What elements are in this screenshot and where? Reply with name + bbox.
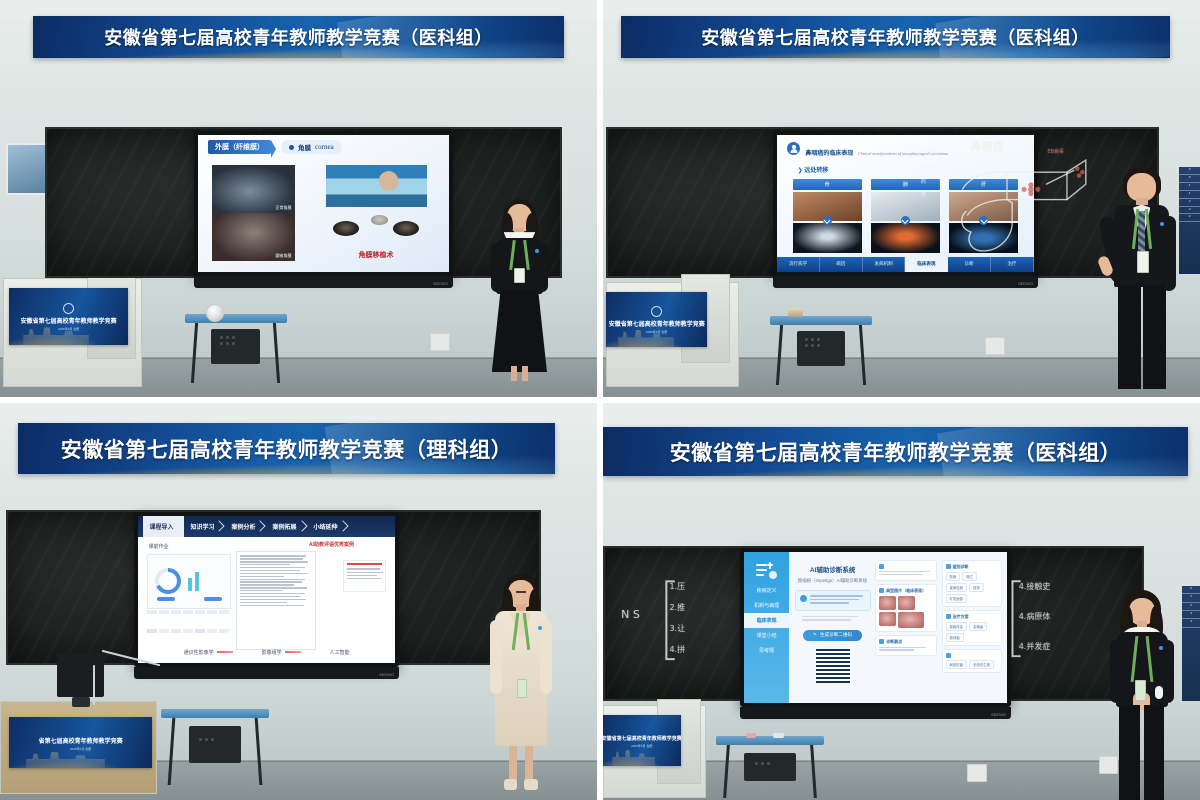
desk-leg-left bbox=[723, 745, 730, 798]
display-chin bbox=[773, 276, 1038, 288]
event-banner: 安徽省第七届高校青年教师教学竞赛（理科组） bbox=[18, 423, 555, 475]
desk-surface bbox=[716, 736, 823, 745]
slide-title-row: 外膜（纤维膜） 角膜 cornea bbox=[208, 140, 342, 154]
recipient-eye-icon bbox=[393, 221, 419, 236]
display-brand-logo: SEEWO bbox=[991, 712, 1006, 717]
desk-modesty-panel bbox=[744, 753, 796, 781]
analytics-dashboard bbox=[147, 554, 231, 609]
slide-legend: 通识性影像学 影像组学 人工智能 bbox=[169, 649, 364, 656]
chip[interactable]: 接触传染 bbox=[946, 622, 968, 631]
podium-sign-date: 2025年6月 合肥 bbox=[70, 747, 91, 751]
graft-disc-icon bbox=[371, 215, 388, 225]
legend-label-3: 人工智能 bbox=[330, 649, 350, 656]
eyeball-model-prop bbox=[206, 304, 224, 322]
legend-item-3: 人工智能 bbox=[330, 649, 350, 656]
chip-group-symptoms[interactable]: 脓疱 糜烂 蜜黄色痂 瘙痒 好发面部 bbox=[946, 572, 998, 603]
slide-bullet: ❯ 远处转移 bbox=[798, 165, 829, 174]
blackboard-left-item-1: 1.压 bbox=[669, 581, 685, 592]
chip[interactable]: 脓疱 bbox=[946, 572, 961, 581]
column-bone: 骨 bbox=[793, 179, 862, 253]
desk-surface bbox=[770, 316, 871, 325]
legend-item-1: 通识性影像学 bbox=[184, 649, 233, 656]
dashboard-pill-left bbox=[157, 597, 175, 601]
desk-modesty-panel bbox=[797, 331, 846, 365]
podium-sign-date: 2025年6月 合肥 bbox=[631, 744, 652, 748]
blackboard-right-item-3: 4.并发症 bbox=[1019, 641, 1051, 652]
event-banner: 安徽省第七届高校青年教师教学竞赛（医科组） bbox=[603, 427, 1188, 477]
podium-sign-skyline bbox=[612, 746, 655, 767]
tab-treatment[interactable]: 治疗 bbox=[991, 257, 1034, 272]
blackboard-left-item-3: 3.让 bbox=[669, 623, 685, 634]
desk-panel-dots bbox=[220, 336, 235, 345]
presenter-male bbox=[1099, 167, 1186, 389]
lesion-thumb[interactable] bbox=[898, 596, 915, 610]
trouser-left bbox=[1119, 705, 1140, 800]
document-camera-monitor bbox=[57, 653, 105, 697]
blackboard-note-1: "广东瘤" bbox=[918, 148, 938, 155]
podium-sign-date: 2025年6月 合肥 bbox=[646, 330, 667, 334]
podium-sign-title: 安徽省第七届高校青年教师教学竞赛 bbox=[603, 735, 681, 742]
ai-intro-column: AI辅助诊断系统 脓疱疮（impetigo）AI辅助诊断系统 ✎ 生成诊断二维码 bbox=[794, 560, 871, 695]
name-badge bbox=[517, 679, 528, 698]
ai-tip-text bbox=[810, 595, 866, 606]
slide-footer-caption: 角膜移植术 bbox=[316, 250, 436, 260]
tab-etiology[interactable]: 病因 bbox=[820, 257, 863, 272]
card-instructions-title bbox=[879, 564, 933, 569]
card-pathogen-chips-title: 治疗方案 bbox=[946, 614, 998, 620]
camera-post bbox=[93, 665, 95, 705]
arm-right bbox=[540, 620, 552, 694]
chevron-down-icon bbox=[823, 216, 832, 225]
card-symptom-chips: 鉴别诊断 脓疱 糜烂 蜜黄色痂 瘙痒 好发面部 bbox=[942, 560, 1002, 607]
chip[interactable]: 链球菌 bbox=[946, 633, 964, 642]
card-pathogen-chips: 治疗方案 接触传染 金葡菌 链球菌 bbox=[942, 610, 1002, 646]
podium-sign: 省第七届高校青年教师教学竞赛 2025年6月 合肥 bbox=[9, 717, 152, 769]
desk-surface bbox=[185, 314, 286, 323]
column-header: 骨 bbox=[793, 179, 862, 190]
keratoconus-photo: 圆锥角膜 bbox=[212, 213, 295, 261]
legend-item-2: 影像组学 bbox=[262, 649, 301, 656]
legend-label-1: 通识性影像学 bbox=[184, 649, 214, 656]
caption-normal: 正常角膜 bbox=[276, 205, 292, 211]
wall-socket bbox=[430, 333, 450, 351]
slide-sub-cn: 角膜 bbox=[298, 142, 311, 152]
blackboard-title: 鼻咽癌 bbox=[970, 138, 1003, 154]
smart-display[interactable]: 疾病定义 机制与病理 临床表现 课堂小结 思考题 AI辅助诊断系统 脓疱疮（im… bbox=[740, 548, 1011, 707]
slide-tag: 外膜（纤维膜） bbox=[208, 140, 271, 154]
pencil-icon: ✎ bbox=[813, 632, 817, 638]
caption-keratoconus: 圆锥角膜 bbox=[276, 253, 292, 259]
chip[interactable]: 局部抗菌 bbox=[946, 660, 968, 669]
lesion-thumb[interactable] bbox=[879, 612, 896, 626]
tab-pathogenesis[interactable]: 发病机制 bbox=[863, 257, 906, 272]
panel-top-left[interactable]: 安徽省第七届高校青年教师教学竞赛 2025年6月 合肥 安徽省第七届高校青年教师… bbox=[0, 0, 597, 397]
slide-left-images: 正常角膜 圆锥角膜 bbox=[212, 165, 295, 261]
slide-subtitle-pill: 角膜 cornea bbox=[281, 140, 342, 154]
sidebar-item-questions[interactable]: 思考题 bbox=[744, 643, 789, 658]
demo-desk bbox=[716, 736, 823, 800]
desk-panel-dots bbox=[199, 738, 214, 741]
xray-image bbox=[793, 223, 862, 252]
ai-helper-text bbox=[802, 616, 863, 623]
desk-leg-right bbox=[810, 745, 817, 798]
desk-surface bbox=[161, 709, 268, 718]
image-cards-column: 典型图片（临床表现） 诊断要点 bbox=[875, 560, 937, 695]
lesion-thumb-large[interactable] bbox=[898, 612, 924, 628]
tab-diagnosis[interactable]: 诊断 bbox=[948, 257, 991, 272]
display-chin bbox=[134, 667, 399, 679]
step-summary[interactable]: 小结延伸 bbox=[308, 516, 349, 537]
desk-leg-right bbox=[858, 325, 865, 385]
podium-sign-title: 安徽省第七届高校青年教师教学竞赛 bbox=[21, 316, 117, 325]
arm-left bbox=[490, 620, 502, 694]
desk-leg-right bbox=[255, 718, 263, 785]
chip-group-pathogens[interactable]: 接触传染 金葡菌 链球菌 bbox=[946, 622, 998, 642]
chips-column: 鉴别诊断 脓疱 糜烂 蜜黄色痂 瘙痒 好发面部 治疗方案 bbox=[942, 560, 1002, 695]
card-treatment-chips-title bbox=[946, 653, 998, 658]
slide-sub-en: cornea bbox=[315, 143, 334, 151]
legend-label-2: 影像组学 bbox=[262, 649, 282, 656]
tab-epidemiology[interactable]: 流行病学 bbox=[777, 257, 820, 272]
podium-sign-date: 2025年6月 合肥 bbox=[58, 327, 79, 331]
bullet-dot-icon bbox=[289, 145, 294, 150]
step-knowledge-learning[interactable]: 知识学习 bbox=[184, 516, 225, 537]
wall-socket bbox=[985, 337, 1005, 355]
leg-right bbox=[522, 366, 528, 381]
slide-subtitle: 课前作业 bbox=[149, 543, 169, 550]
sidebar-item-disease-definition[interactable]: 疾病定义 bbox=[744, 583, 789, 598]
info-icon bbox=[800, 595, 807, 602]
sidebar-item-class-summary[interactable]: 课堂小结 bbox=[744, 628, 789, 643]
chip[interactable]: 蜜黄色痂 bbox=[946, 583, 968, 592]
blackboard-red-note: EB病毒 bbox=[1047, 148, 1064, 155]
ceiling-strip bbox=[0, 403, 597, 423]
generate-qr-button[interactable]: ✎ 生成诊断二维码 bbox=[803, 630, 861, 641]
podium-sign: 安徽省第七届高校青年教师教学竞赛 2025年6月 合肥 bbox=[606, 292, 707, 348]
card-instructions bbox=[875, 560, 937, 581]
blackboard-right-item-1: 4.接触史 bbox=[1019, 581, 1051, 592]
leg-left bbox=[511, 366, 517, 381]
desk-panel-dots bbox=[805, 338, 820, 347]
card-typical-images: 典型图片（临床表现） bbox=[875, 584, 937, 632]
display-brand-logo: SEEWO bbox=[433, 281, 448, 286]
slide-red-title: AI助教评语优秀案例 bbox=[309, 541, 354, 548]
tab-clinical-manifestations[interactable]: 临床表现 bbox=[905, 257, 948, 272]
donor-eye-icon bbox=[333, 221, 359, 236]
sidebar-item-clinical-manifestations[interactable]: 临床表现 bbox=[744, 613, 789, 628]
arm-right bbox=[1162, 216, 1177, 292]
note-accent bbox=[347, 563, 382, 565]
chip[interactable]: 瘙痒 bbox=[969, 583, 984, 592]
banner-title: 安徽省第七届高校青年教师教学竞赛（理科组） bbox=[61, 434, 513, 464]
blackboard-note-4: 知 bbox=[921, 191, 926, 198]
desk-panel-dots bbox=[755, 762, 770, 765]
banner-title: 安徽省第七届高校青年教师教学竞赛（医科组） bbox=[670, 437, 1122, 467]
teaching-prop-red bbox=[746, 733, 756, 738]
podium-sign-skyline bbox=[618, 325, 674, 347]
presenter-female-2 bbox=[478, 574, 565, 792]
card-typical-images-title: 典型图片（临床表现） bbox=[879, 588, 933, 594]
slide-bullet-label: 远处转移 bbox=[804, 168, 828, 174]
lesion-thumb[interactable] bbox=[879, 596, 896, 610]
ai-tip-box bbox=[795, 590, 871, 611]
trouser-left bbox=[1118, 285, 1141, 389]
shoe-right bbox=[524, 779, 538, 790]
photo-grid: 安徽省第七届高校青年教师教学竞赛 2025年6月 合肥 安徽省第七届高校青年教师… bbox=[0, 0, 1200, 800]
event-banner: 安徽省第七届高校青年教师教学竞赛（医科组） bbox=[33, 16, 564, 58]
name-badge bbox=[514, 268, 524, 283]
name-badge bbox=[1137, 251, 1149, 273]
slide-sidebar[interactable]: 疾病定义 机制与病理 临床表现 课堂小结 思考题 bbox=[744, 552, 789, 703]
ai-comment-document bbox=[236, 551, 316, 650]
event-banner: 安徽省第七届高校青年教师教学竞赛（医科组） bbox=[621, 16, 1170, 58]
slide-right-images: 角膜移植术 bbox=[316, 165, 436, 261]
smart-display[interactable]: 课程导入 知识学习 案例分析 案例拓展 小结延伸 课前作业 AI助教评语优秀案例 bbox=[134, 512, 399, 667]
card-treatment-chips: 局部抗菌 系统抗生素 bbox=[942, 649, 1002, 673]
blackboard-left-head: N S bbox=[621, 608, 640, 621]
chip[interactable]: 糜烂 bbox=[962, 572, 977, 581]
card-diagnosis-points: 诊断要点 bbox=[875, 635, 937, 657]
thumbnail-row bbox=[879, 596, 933, 628]
leg-left bbox=[509, 746, 517, 781]
monitor-stand bbox=[72, 697, 90, 707]
calendar-grid bbox=[147, 610, 229, 645]
person-icon bbox=[787, 142, 800, 155]
card-diagnosis-points-title: 诊断要点 bbox=[879, 639, 933, 645]
demo-desk bbox=[185, 314, 286, 385]
panel-bottom-right[interactable]: 安徽省第七届高校青年教师教学竞赛（医科组） N S 1.压 2.推 3.让 4.… bbox=[603, 403, 1200, 800]
display-brand-logo: SEEWO bbox=[379, 672, 394, 677]
arm-left bbox=[491, 243, 503, 292]
arm-left bbox=[1110, 640, 1123, 703]
banner-title: 安徽省第七届高校青年教师教学竞赛（医科组） bbox=[104, 24, 493, 50]
emblem-icon bbox=[63, 303, 74, 314]
shoe-left bbox=[504, 779, 518, 790]
surgeon-photo bbox=[326, 165, 427, 207]
presenter-female-1 bbox=[478, 199, 562, 386]
slide-main-area: AI辅助诊断系统 脓疱疮（impetigo）AI辅助诊断系统 ✎ 生成诊断二维码 bbox=[789, 552, 1007, 703]
dashboard-pill-right bbox=[204, 597, 222, 601]
score-bars bbox=[188, 569, 199, 591]
skull-model-prop bbox=[788, 308, 803, 317]
normal-cornea-photo: 正常角膜 bbox=[212, 165, 295, 213]
desk-leg-right bbox=[273, 323, 280, 383]
sidebar-item-mechanism-pathology[interactable]: 机制与病理 bbox=[744, 598, 789, 613]
trouser-right bbox=[1143, 285, 1166, 389]
blackboard-note-2: 基础 bbox=[921, 164, 931, 171]
display-chin bbox=[740, 707, 1011, 719]
step-case-analysis[interactable]: 案例分析 bbox=[225, 516, 266, 537]
blackboard-left-item-2: 2.推 bbox=[669, 602, 685, 613]
glasses-icon bbox=[516, 591, 526, 593]
chip[interactable]: 系统抗生素 bbox=[969, 660, 994, 669]
teaching-prop-white bbox=[773, 733, 784, 738]
chip-group-treatment[interactable]: 局部抗菌 系统抗生素 bbox=[946, 660, 998, 669]
wrist-band bbox=[1155, 686, 1163, 699]
podium-sign: 安徽省第七届高校青年教师教学竞赛 2025年6月 合肥 bbox=[9, 288, 128, 346]
trouser-right bbox=[1144, 705, 1165, 800]
chip[interactable]: 好发面部 bbox=[946, 594, 968, 603]
slide-title-cn: 鼻咽癌的临床表现 bbox=[805, 151, 853, 157]
slide-tabs[interactable]: 流行病学 病因 发病机制 临床表现 诊断 治疗 bbox=[777, 257, 1034, 272]
demo-desk bbox=[161, 709, 268, 788]
panel-bottom-left[interactable]: 安徽省第七届高校青年教师教学竞赛（理科组） 课程导入 知识学习 案例分析 案例拓… bbox=[0, 403, 597, 800]
desk-modesty-panel bbox=[189, 726, 241, 763]
panel-top-right[interactable]: 安徽省第七届高校青年教师教学竞赛（医科组） 鼻咽癌 "广东瘤" 基础 的 知 E… bbox=[603, 0, 1200, 397]
desk-leg-left bbox=[776, 325, 783, 385]
slide-screen[interactable]: 疾病定义 机制与病理 临床表现 课堂小结 思考题 AI辅助诊断系统 脓疱疮（im… bbox=[744, 552, 1007, 703]
slide-step-nav[interactable]: 课程导入 知识学习 案例分析 案例拓展 小结延伸 bbox=[143, 516, 348, 537]
step-course-intro[interactable]: 课程导入 bbox=[143, 516, 184, 537]
blackboard-right-item-2: 4.病原体 bbox=[1019, 611, 1051, 622]
generate-qr-label: 生成诊断二维码 bbox=[820, 632, 852, 638]
qr-code-image bbox=[816, 649, 850, 683]
skirt bbox=[492, 290, 547, 372]
slide-flow: 课程导入 知识学习 案例分析 案例拓展 小结延伸 课前作业 AI助教评语优秀案例 bbox=[138, 516, 395, 663]
smart-display[interactable]: 外膜（纤维膜） 角膜 cornea 正常角膜 圆锥角膜 bbox=[194, 131, 453, 276]
podium-sign-title: 安徽省第七届高校青年教师教学竞赛 bbox=[609, 319, 705, 328]
completion-gauge bbox=[155, 568, 181, 594]
step-case-extension[interactable]: 案例拓展 bbox=[266, 516, 307, 537]
desk-leg-left bbox=[167, 718, 175, 785]
emblem-icon bbox=[651, 306, 662, 317]
blackboard-left-item-4: 4.拼 bbox=[669, 644, 685, 655]
demo-desk bbox=[770, 316, 871, 387]
leg-right bbox=[525, 746, 533, 781]
app-logo-icon bbox=[756, 562, 778, 580]
podium-sign-skyline bbox=[26, 748, 105, 769]
slide-cornea: 外膜（纤维膜） 角膜 cornea 正常角膜 圆锥角膜 bbox=[198, 135, 449, 272]
name-badge bbox=[1135, 680, 1147, 701]
desk-modesty-panel bbox=[211, 329, 260, 363]
podium-sign: 安徽省第七届高校青年教师教学竞赛 2025年6月 合肥 bbox=[603, 715, 681, 767]
arm-right bbox=[1161, 640, 1174, 703]
podium-sign-title: 省第七届高校青年教师教学竞赛 bbox=[39, 736, 123, 745]
slide-ai-diagnosis: 疾病定义 机制与病理 临床表现 课堂小结 思考题 AI辅助诊断系统 脓疱疮（im… bbox=[744, 552, 1007, 703]
blackboard-right-head: 4' bbox=[981, 620, 989, 630]
ai-system-subtitle: 脓疱疮（impetigo）AI辅助诊断系统 bbox=[798, 578, 867, 584]
presenter-female-3 bbox=[1099, 590, 1186, 800]
lapel-pin-icon bbox=[538, 626, 542, 630]
ai-system-title: AI辅助诊断系统 bbox=[810, 564, 856, 574]
wall-socket bbox=[967, 764, 987, 782]
display-chin bbox=[194, 276, 453, 288]
blackboard-note-3: 的 bbox=[921, 178, 926, 185]
slide-screen[interactable]: 外膜（纤维膜） 角膜 cornea 正常角膜 圆锥角膜 bbox=[198, 135, 449, 272]
banner-title: 安徽省第七届高校青年教师教学竞赛（医科组） bbox=[701, 24, 1090, 50]
ai-feedback-note bbox=[343, 560, 386, 591]
display-brand-logo: SEEWO bbox=[1018, 281, 1033, 286]
desk-leg-left bbox=[191, 323, 198, 383]
slide-screen[interactable]: 课程导入 知识学习 案例分析 案例拓展 小结延伸 课前作业 AI助教评语优秀案例 bbox=[138, 516, 395, 663]
ceiling-strip bbox=[603, 403, 1200, 423]
card-symptom-chips-title: 鉴别诊断 bbox=[946, 564, 998, 570]
